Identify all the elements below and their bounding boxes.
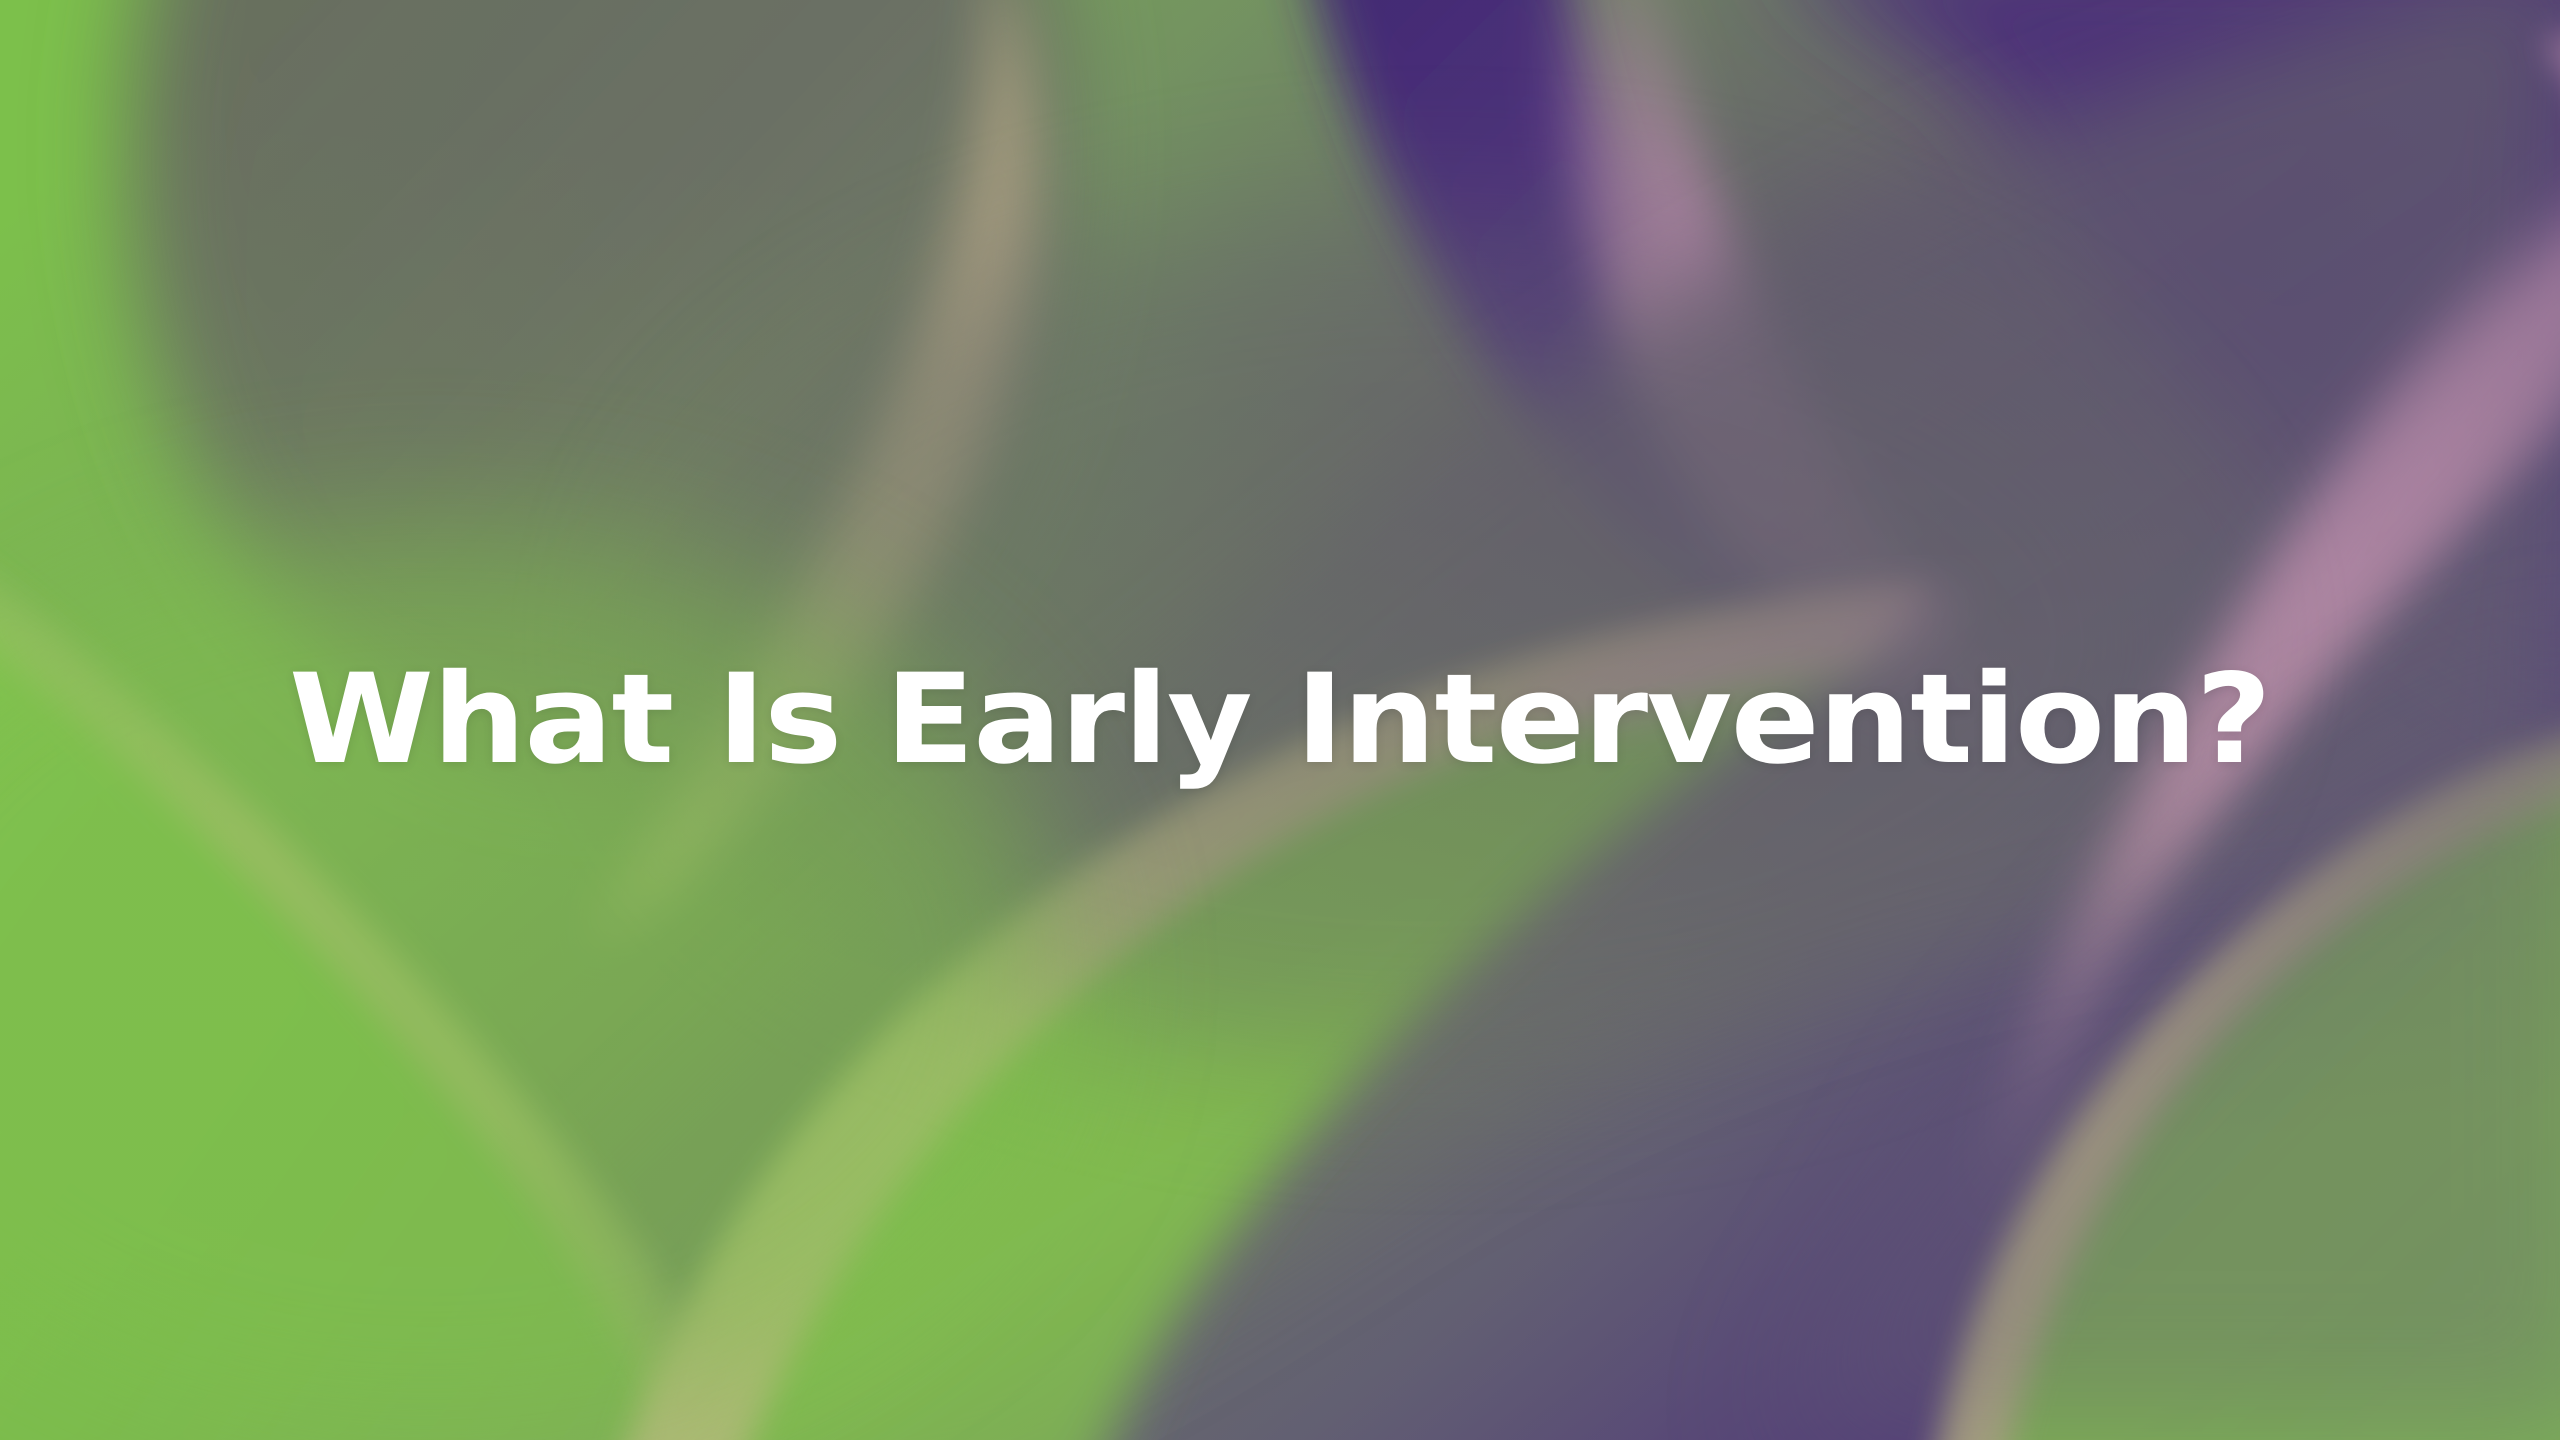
slide-canvas: What Is Early Intervention?: [0, 0, 2560, 1440]
slide-title: What Is Early Intervention?: [289, 655, 2270, 785]
title-container: What Is Early Intervention?: [0, 0, 2560, 1440]
